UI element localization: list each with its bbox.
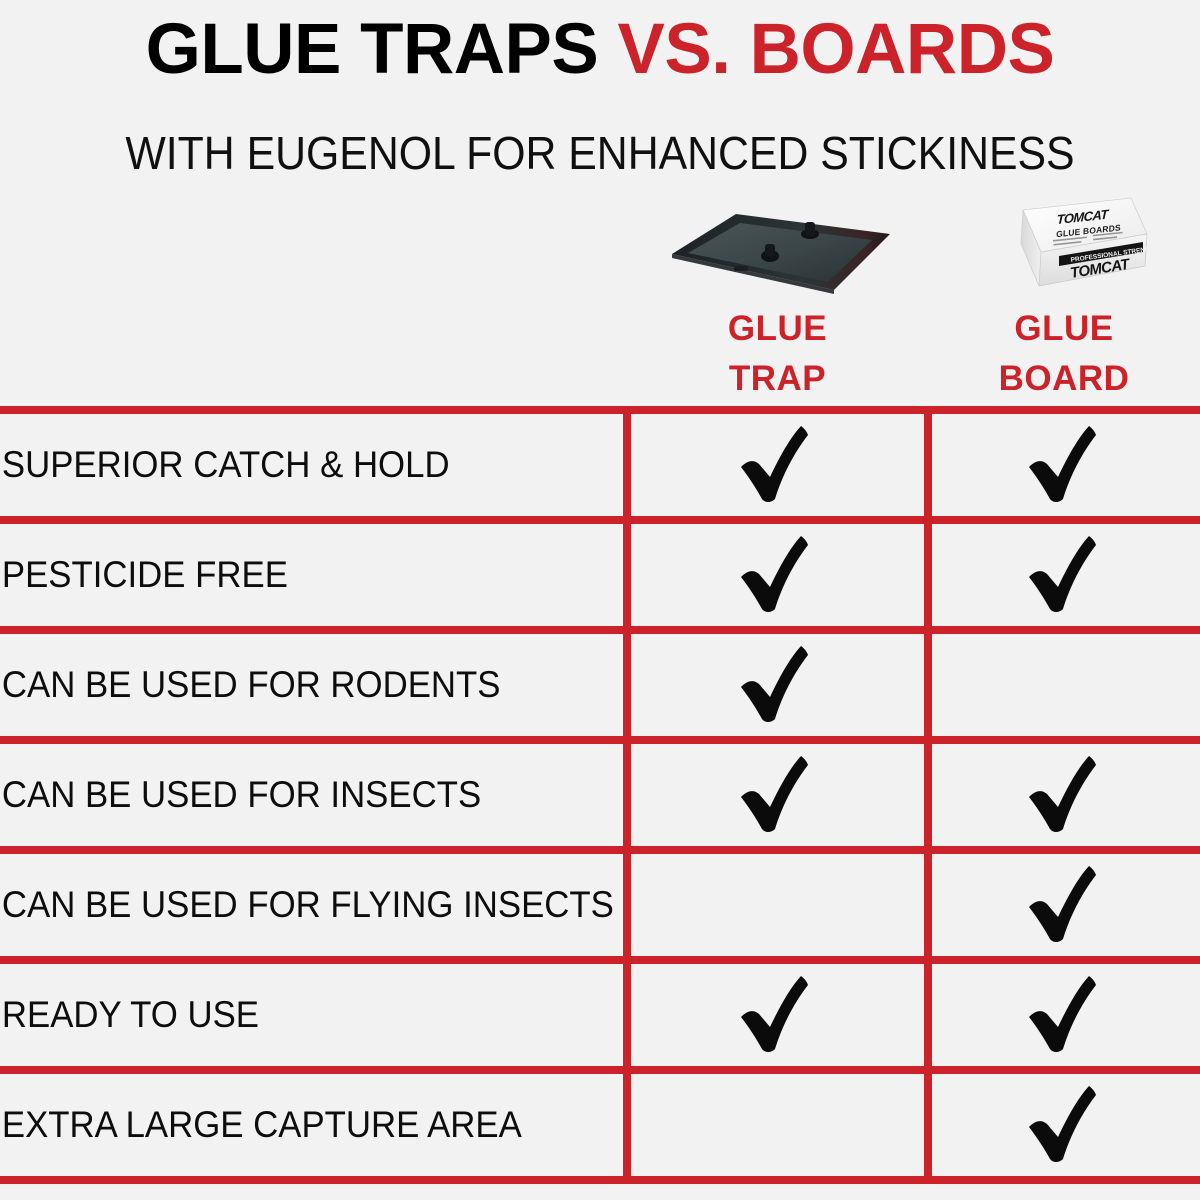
page-subtitle: WITH EUGENOL FOR ENHANCED STICKINESS — [42, 126, 1158, 180]
cell-glue-board — [924, 850, 1200, 960]
column-header-glue-trap: GLUE TRAP — [627, 190, 928, 405]
column-header-glue-board: TOMCAT GLUE BOARDS PROFESSIONAL STRENGTH — [928, 190, 1200, 405]
glue-board-product-image: TOMCAT GLUE BOARDS PROFESSIONAL STRENGTH — [928, 190, 1200, 304]
cell-glue-trap — [623, 520, 924, 630]
feature-label: CAN BE USED FOR RODENTS — [0, 664, 586, 706]
check-mark-icon — [737, 753, 811, 837]
cell-glue-trap — [623, 630, 924, 740]
column-title-glue-trap-line1: GLUE — [728, 304, 827, 355]
cell-glue-board — [924, 520, 1200, 630]
table-row: SUPERIOR CATCH & HOLD — [0, 410, 1200, 520]
check-mark-icon — [1025, 1083, 1099, 1167]
column-title-glue-trap-line2: TRAP — [728, 354, 827, 405]
feature-label: CAN BE USED FOR FLYING INSECTS — [0, 884, 586, 926]
cell-glue-board — [924, 1070, 1200, 1180]
comparison-table: SUPERIOR CATCH & HOLDPESTICIDE FREECAN B… — [0, 406, 1200, 1178]
cell-glue-trap — [623, 850, 924, 960]
check-mark-icon — [737, 423, 811, 507]
table-row: CAN BE USED FOR FLYING INSECTS — [0, 850, 1200, 960]
row-divider — [0, 1176, 1200, 1184]
glue-trap-tray-icon — [658, 194, 898, 309]
page-title-primary: GLUE TRAPS — [146, 10, 618, 89]
column-title-glue-board: GLUE BOARD — [999, 304, 1130, 406]
cell-glue-board — [924, 960, 1200, 1070]
check-mark-icon — [1025, 533, 1099, 617]
cell-glue-trap — [623, 960, 924, 1070]
table-row: PESTICIDE FREE — [0, 520, 1200, 630]
comparison-infographic: GLUE TRAPS VS. BOARDS WITH EUGENOL FOR E… — [0, 0, 1200, 1200]
check-mark-icon — [737, 533, 811, 617]
check-mark-icon — [1025, 973, 1099, 1057]
cell-glue-board — [924, 410, 1200, 520]
row-divider — [0, 516, 1200, 524]
column-title-glue-board-line1: GLUE — [999, 304, 1130, 355]
feature-label: EXTRA LARGE CAPTURE AREA — [0, 1104, 586, 1146]
feature-label: READY TO USE — [0, 994, 586, 1036]
cell-glue-trap — [623, 740, 924, 850]
table-row: EXTRA LARGE CAPTURE AREA — [0, 1070, 1200, 1180]
table-row: READY TO USE — [0, 960, 1200, 1070]
cell-glue-trap — [623, 410, 924, 520]
feature-label: PESTICIDE FREE — [0, 554, 586, 596]
glue-trap-product-image — [627, 190, 928, 304]
column-title-glue-board-line2: BOARD — [999, 354, 1130, 405]
check-mark-icon — [737, 973, 811, 1057]
row-divider — [0, 736, 1200, 744]
feature-label: CAN BE USED FOR INSECTS — [0, 774, 586, 816]
column-title-glue-trap: GLUE TRAP — [728, 304, 827, 406]
feature-label: SUPERIOR CATCH & HOLD — [0, 444, 586, 486]
table-row: CAN BE USED FOR RODENTS — [0, 630, 1200, 740]
row-divider — [0, 406, 1200, 414]
cell-glue-board — [924, 740, 1200, 850]
page-title: GLUE TRAPS VS. BOARDS — [0, 14, 1200, 85]
check-mark-icon — [1025, 863, 1099, 947]
table-row: CAN BE USED FOR INSECTS — [0, 740, 1200, 850]
row-divider — [0, 846, 1200, 854]
row-divider — [0, 626, 1200, 634]
glue-board-box-icon: TOMCAT GLUE BOARDS PROFESSIONAL STRENGTH — [979, 190, 1149, 307]
cell-glue-trap — [623, 1070, 924, 1180]
check-mark-icon — [1025, 423, 1099, 507]
check-mark-icon — [1025, 753, 1099, 837]
page-title-accent: VS. BOARDS — [617, 10, 1054, 89]
cell-glue-board — [924, 630, 1200, 740]
check-mark-icon — [737, 643, 811, 727]
row-divider — [0, 1066, 1200, 1074]
row-divider — [0, 956, 1200, 964]
